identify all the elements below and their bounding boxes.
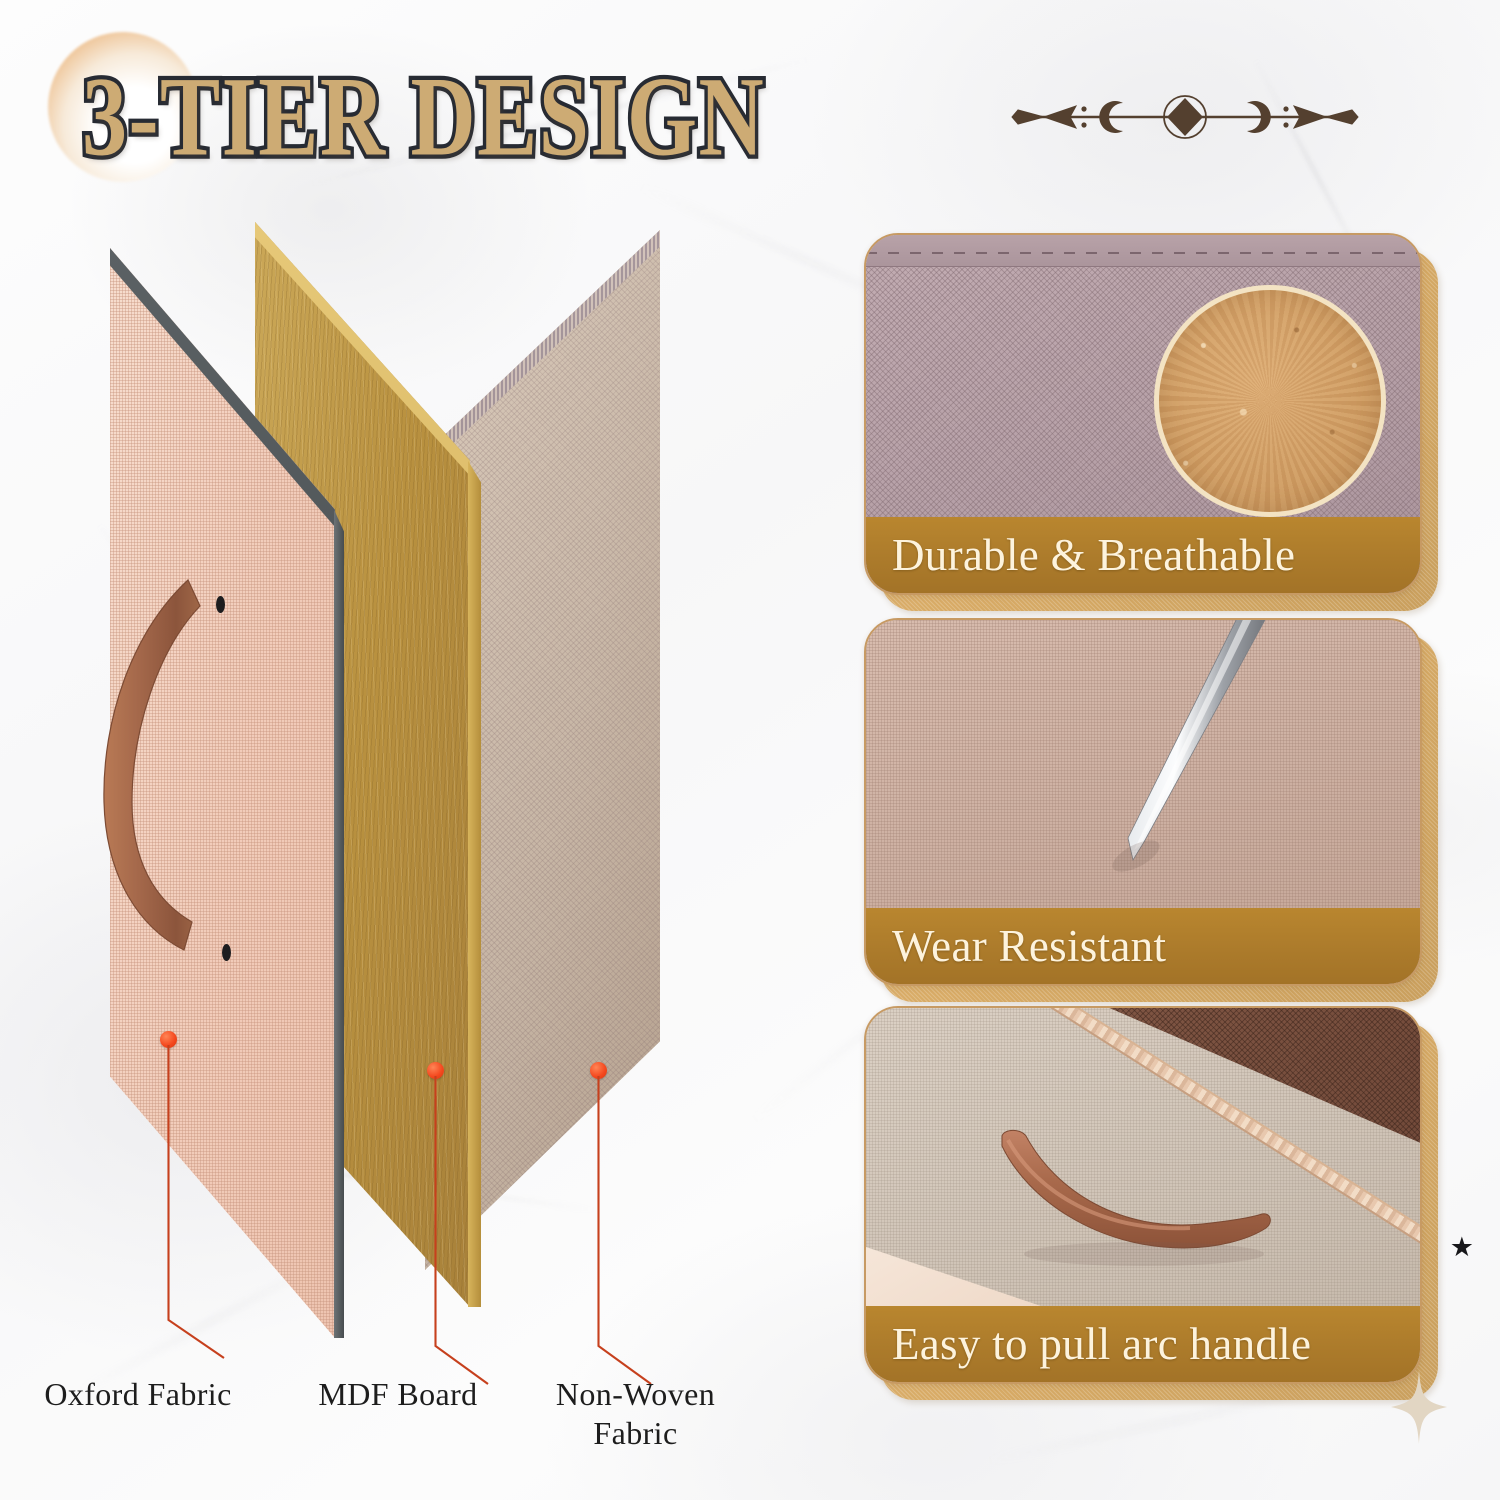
- feature-card-wear-resistant[interactable]: Wear Resistant: [864, 618, 1422, 986]
- exploded-layer-diagram: Oxford Fabric MDF Board Non-Woven Fabric: [0, 200, 820, 1380]
- panel-card: Wear Resistant: [864, 618, 1422, 986]
- needle-icon: [1016, 618, 1346, 930]
- callout-label-non-woven: Non-Woven Fabric: [528, 1375, 743, 1453]
- panel-caption-text: Durable & Breathable: [892, 529, 1295, 581]
- arc-handle-icon: [994, 1128, 1274, 1258]
- panel-caption-bar: Easy to pull arc handle: [866, 1306, 1420, 1382]
- panel-caption-bar: Wear Resistant: [866, 908, 1420, 984]
- cork-texture-magnifier: [1154, 285, 1386, 517]
- callout-label-oxford: Oxford Fabric: [8, 1375, 268, 1414]
- panel-caption-bar: Durable & Breathable: [866, 517, 1420, 593]
- four-point-sparkle: [1390, 1370, 1448, 1444]
- panel-card: Durable & Breathable: [864, 233, 1422, 595]
- hem-stitch-dashes: [866, 252, 1420, 254]
- panel-caption-text: Wear Resistant: [892, 920, 1166, 972]
- callout-leader-lines: [0, 200, 820, 1380]
- infographic-canvas: 3-TIER DESIGN: [0, 0, 1500, 1500]
- page-title: 3-TIER DESIGN: [82, 58, 765, 177]
- feature-card-durable-breathable[interactable]: Durable & Breathable: [864, 233, 1422, 595]
- feature-card-arc-handle[interactable]: Easy to pull arc handle: [864, 1006, 1422, 1384]
- double-arrow-moon-diamond-divider: [1010, 86, 1360, 148]
- star-icon: ★: [1450, 1234, 1474, 1261]
- panel-caption-text: Easy to pull arc handle: [892, 1318, 1311, 1370]
- panel-card: Easy to pull arc handle: [864, 1006, 1422, 1384]
- stitched-hem: [866, 235, 1420, 267]
- callout-label-mdf: MDF Board: [278, 1375, 518, 1414]
